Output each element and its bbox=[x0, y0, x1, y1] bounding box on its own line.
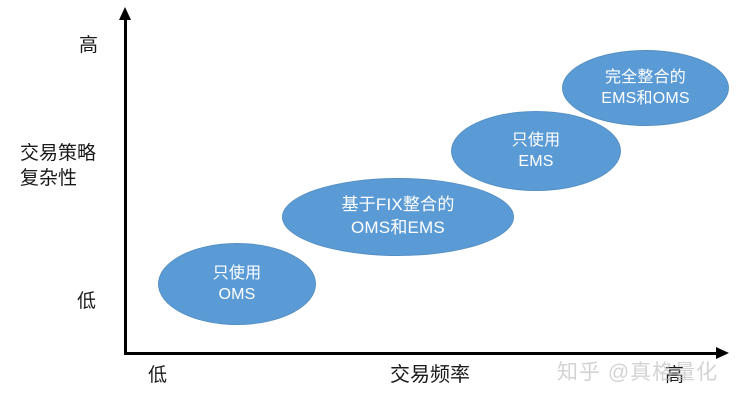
bubble-label: 基于FIX整合的 OMS和EMS bbox=[341, 194, 454, 240]
diagram-canvas: 高 交易策略 复杂性 低 低 交易频率 高 只使用 OMS 基于FIX整合的 O… bbox=[0, 0, 739, 401]
y-axis-title: 交易策略 复杂性 bbox=[20, 141, 96, 191]
y-axis-high-label: 高 bbox=[79, 33, 98, 58]
bubble-node[interactable]: 基于FIX整合的 OMS和EMS bbox=[282, 178, 514, 256]
bubble-node[interactable]: 完全整合的 EMS和OMS bbox=[562, 50, 729, 126]
bubble-node[interactable]: 只使用 OMS bbox=[158, 243, 316, 325]
bubble-label: 完全整合的 EMS和OMS bbox=[601, 67, 690, 110]
x-axis-low-label: 低 bbox=[148, 363, 167, 388]
bubble-label: 只使用 OMS bbox=[213, 263, 262, 306]
x-axis-line bbox=[124, 352, 719, 355]
x-axis-high-label: 高 bbox=[665, 363, 684, 388]
watermark: 知乎 @真格量化 bbox=[557, 356, 718, 386]
x-axis-title: 交易频率 bbox=[390, 362, 470, 388]
y-axis-line bbox=[124, 18, 127, 355]
y-axis-low-label: 低 bbox=[77, 289, 96, 314]
x-axis-arrow-icon bbox=[716, 347, 729, 359]
bubble-node[interactable]: 只使用 EMS bbox=[451, 111, 621, 191]
bubble-label: 只使用 EMS bbox=[512, 130, 561, 173]
y-axis-arrow-icon bbox=[119, 7, 131, 20]
